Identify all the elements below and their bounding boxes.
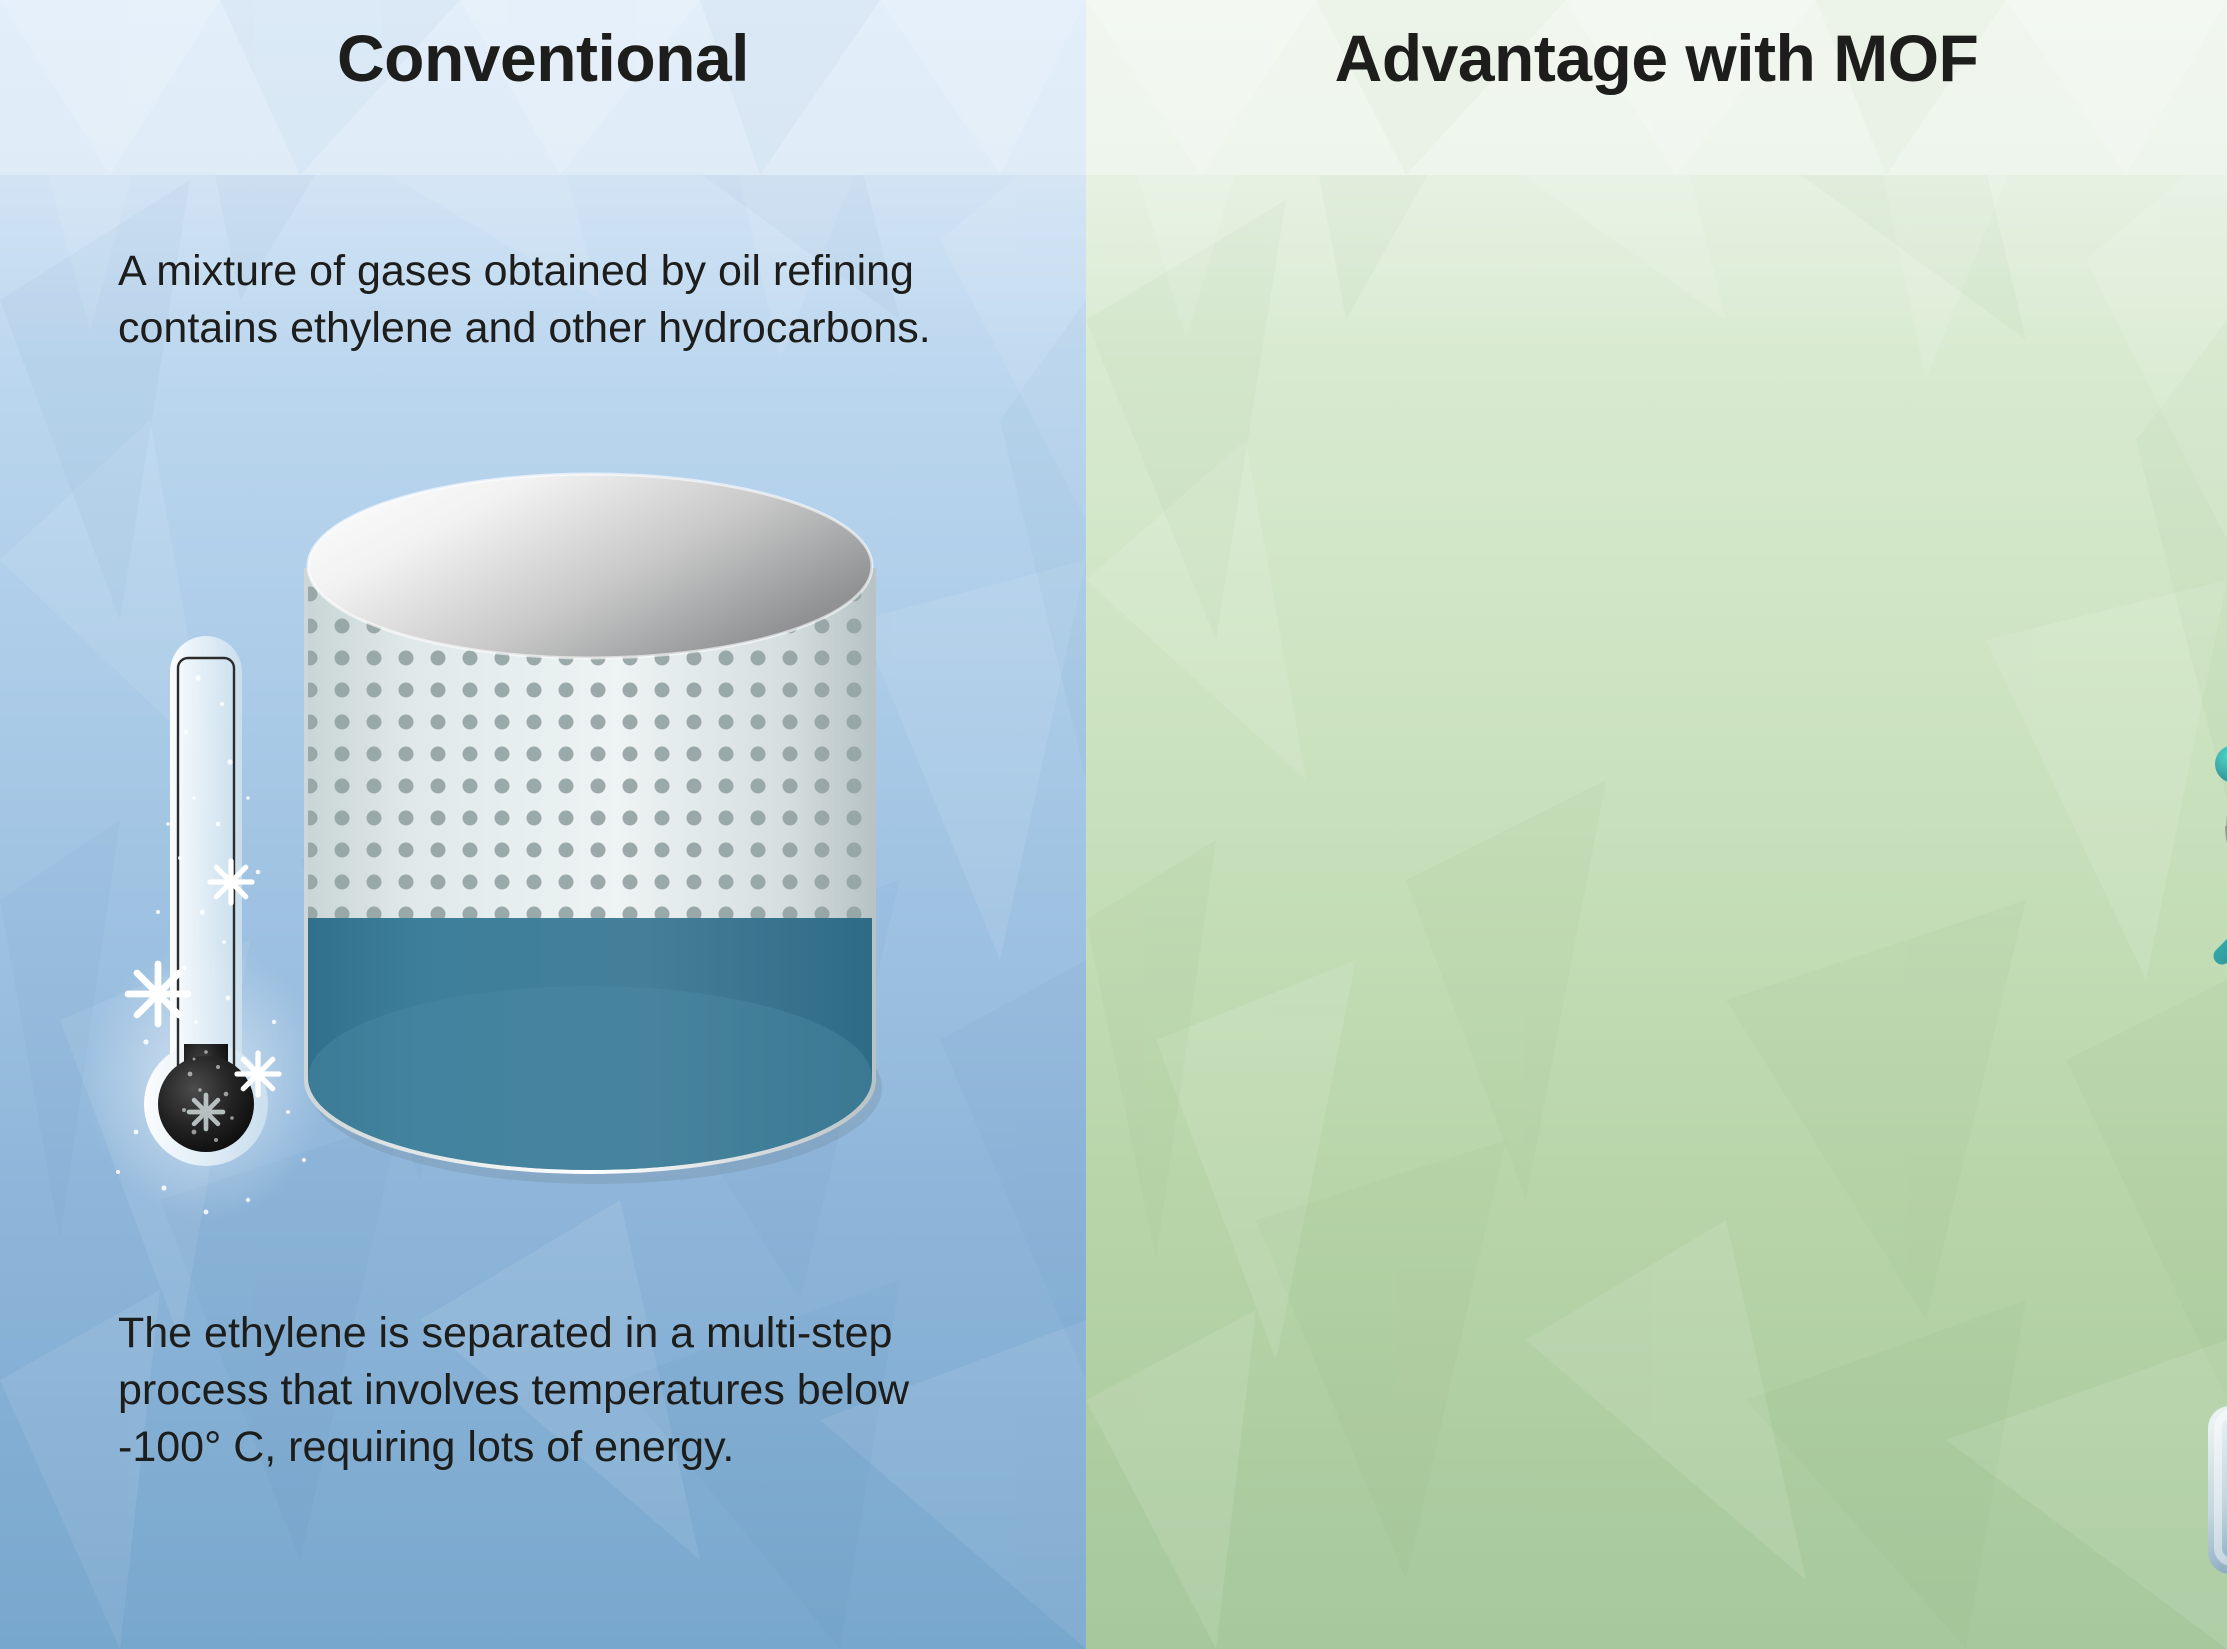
header-band-right: Advantage with MOF <box>1086 0 2227 175</box>
mof-molecule-nodes <box>2215 609 2227 1118</box>
liquid-surface <box>308 986 872 1170</box>
panel-advantage-mof: Advantage with MOF A gas mixture of ethy… <box>1086 0 2227 1649</box>
left-top-paragraph: A mixture of gases obtained by oil refin… <box>118 243 998 357</box>
plastic-bottle-icon <box>2208 1368 2227 1574</box>
gas-cylinder-graphic <box>300 488 890 1238</box>
panel-left-title: Conventional <box>0 22 1086 95</box>
mof-ring-graphic <box>2212 386 2227 1176</box>
panel-right-title: Advantage with MOF <box>1086 22 2227 95</box>
low-poly-texture-right <box>1086 0 2227 1649</box>
plastic-products-graphic <box>2208 1192 2227 1582</box>
left-bottom-paragraph: The ethylene is separated in a multi-ste… <box>118 1305 998 1477</box>
infographic-root: Conventional A mixture of gases obtained… <box>0 0 2227 1649</box>
header-band-left: Conventional <box>0 0 1086 175</box>
panel-conventional: Conventional A mixture of gases obtained… <box>0 0 1086 1649</box>
